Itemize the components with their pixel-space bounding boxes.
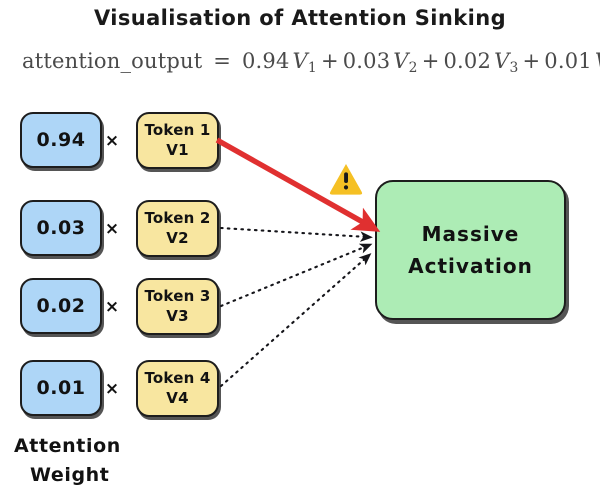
token-label-2: Token 2: [144, 209, 210, 228]
formula-term-2-symbol: V2: [390, 49, 417, 73]
formula-op-1: +: [317, 49, 343, 73]
attention-weight-box-3[interactable]: 0.02: [20, 278, 102, 334]
multiply-operator-3: ×: [101, 297, 123, 317]
formula-term-4-symbol: V4: [592, 49, 600, 73]
caption-line2: Weight: [14, 461, 121, 490]
formula-term-2: 0.03: [343, 49, 391, 73]
attention-weight-box-1[interactable]: 0.94: [20, 112, 102, 168]
attention-weight-box-4[interactable]: 0.01: [20, 360, 102, 416]
multiply-operator-1: ×: [101, 131, 123, 151]
token-label-4: Token 4: [144, 369, 210, 388]
formula-term-3: 0.02: [444, 49, 492, 73]
token-box-1[interactable]: Token 1 V1: [136, 112, 219, 169]
warning-triangle-icon: [330, 164, 362, 195]
formula-lhs: attention_output: [22, 49, 202, 73]
attention-weight-value-1: 0.94: [37, 129, 86, 151]
token-label-1: Token 1: [144, 121, 210, 140]
diagram-canvas: Visualisation of Attention Sinking atten…: [0, 0, 600, 500]
massive-activation-line2: Activation: [408, 250, 533, 282]
massive-activation-line1: Massive: [422, 218, 520, 250]
highlight-arrow-token-1: [217, 140, 368, 225]
token-label-3: Token 3: [144, 287, 210, 306]
formula-term-1-symbol: V1: [290, 49, 317, 73]
token-value-4: V4: [166, 389, 188, 408]
formula-term-3-symbol: V3: [491, 49, 518, 73]
attention-weight-value-3: 0.02: [37, 295, 86, 317]
token-box-3[interactable]: Token 3 V3: [136, 278, 219, 335]
massive-activation-node[interactable]: Massive Activation: [375, 180, 566, 320]
multiply-operator-2: ×: [101, 219, 123, 239]
dotted-arrow-token-3: [221, 246, 367, 306]
formula-op-3: +: [518, 49, 544, 73]
formula-term-4: 0.01: [544, 49, 592, 73]
page-title: Visualisation of Attention Sinking: [0, 6, 600, 30]
attention-weight-box-2[interactable]: 0.03: [20, 200, 102, 256]
token-value-3: V3: [166, 307, 188, 326]
token-value-2: V2: [166, 229, 188, 248]
attention-weight-value-2: 0.03: [37, 217, 86, 239]
token-value-1: V1: [166, 141, 188, 160]
attention-output-formula: attention_output = 0.94V1+0.03V2+0.02V3+…: [22, 49, 600, 76]
dotted-arrow-token-2: [221, 228, 367, 237]
formula-term-1: 0.94: [242, 49, 290, 73]
token-box-4[interactable]: Token 4 V4: [136, 360, 219, 417]
formula-equals: =: [209, 49, 235, 73]
multiply-operator-4: ×: [101, 379, 123, 399]
attention-weight-caption: Attention Weight: [14, 432, 121, 491]
caption-line1: Attention: [14, 432, 121, 461]
formula-op-2: +: [418, 49, 444, 73]
attention-weight-value-4: 0.01: [37, 377, 86, 399]
token-box-2[interactable]: Token 2 V2: [136, 200, 219, 257]
formula-term-2-sub: 2: [409, 60, 418, 76]
dotted-arrow-token-4: [221, 257, 367, 386]
formula-term-1-sub: 1: [308, 60, 317, 76]
